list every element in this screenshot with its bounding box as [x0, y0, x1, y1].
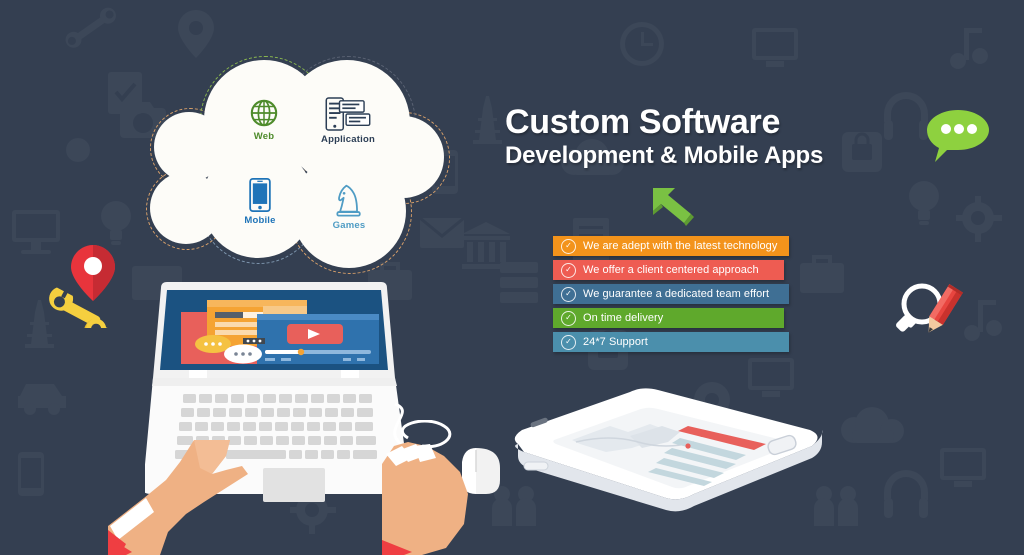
arrow-up-left-icon: [650, 185, 702, 229]
chess-knight-icon: [335, 183, 363, 217]
feature-label: We offer a client centered approach: [583, 264, 759, 276]
cloud-item-label-application: Application: [321, 134, 375, 145]
service-cloud: Web Application: [140, 50, 460, 255]
feature-list: ✓ We are adept with the latest technolog…: [553, 236, 789, 356]
cloud-item-mobile[interactable]: Mobile: [232, 172, 288, 232]
pin-and-wrench-group: [45, 243, 145, 328]
banner-stage: Web Application: [0, 0, 1024, 555]
feature-bar[interactable]: ✓ We are adept with the latest technolog…: [553, 236, 789, 256]
magnifier-and-pencil-group: [890, 280, 995, 345]
page-title: Custom Software: [505, 105, 855, 140]
feature-bar[interactable]: ✓ 24*7 Support: [553, 332, 789, 352]
smartphone-icon: [249, 178, 271, 212]
left-hand-illustration: [108, 440, 298, 555]
feature-bar[interactable]: ✓ We offer a client centered approach: [553, 260, 784, 280]
wrench-icon: [45, 286, 116, 328]
feature-label: On time delivery: [583, 312, 663, 324]
feature-bar[interactable]: ✓ On time delivery: [553, 308, 784, 328]
page-subtitle: Development & Mobile Apps: [505, 142, 855, 170]
check-circle-icon: ✓: [561, 263, 576, 278]
map-pin-icon: [71, 245, 115, 301]
app-windows-icon: [325, 97, 371, 131]
cloud-item-label-web: Web: [254, 131, 274, 142]
cloud-item-web[interactable]: Web: [234, 92, 294, 148]
chat-bubble-icon: [925, 108, 991, 164]
cloud-item-label-games: Games: [333, 220, 366, 231]
check-circle-icon: ✓: [561, 335, 576, 350]
smartphone-illustration: [480, 382, 825, 517]
check-circle-icon: ✓: [561, 287, 576, 302]
feature-label: 24*7 Support: [583, 336, 648, 348]
feature-bar[interactable]: ✓ We guarantee a dedicated team effort: [553, 284, 789, 304]
cloud-item-application[interactable]: Application: [312, 90, 384, 152]
pencil-icon: [922, 284, 963, 337]
cloud-item-label-mobile: Mobile: [244, 215, 275, 226]
check-circle-icon: ✓: [561, 311, 576, 326]
feature-label: We guarantee a dedicated team effort: [583, 288, 769, 300]
globe-icon: [249, 98, 279, 128]
feature-label: We are adept with the latest technology: [583, 240, 777, 252]
headline-block: Custom Software Development & Mobile App…: [505, 105, 855, 170]
cloud-item-games[interactable]: Games: [320, 176, 378, 238]
check-circle-icon: ✓: [561, 239, 576, 254]
